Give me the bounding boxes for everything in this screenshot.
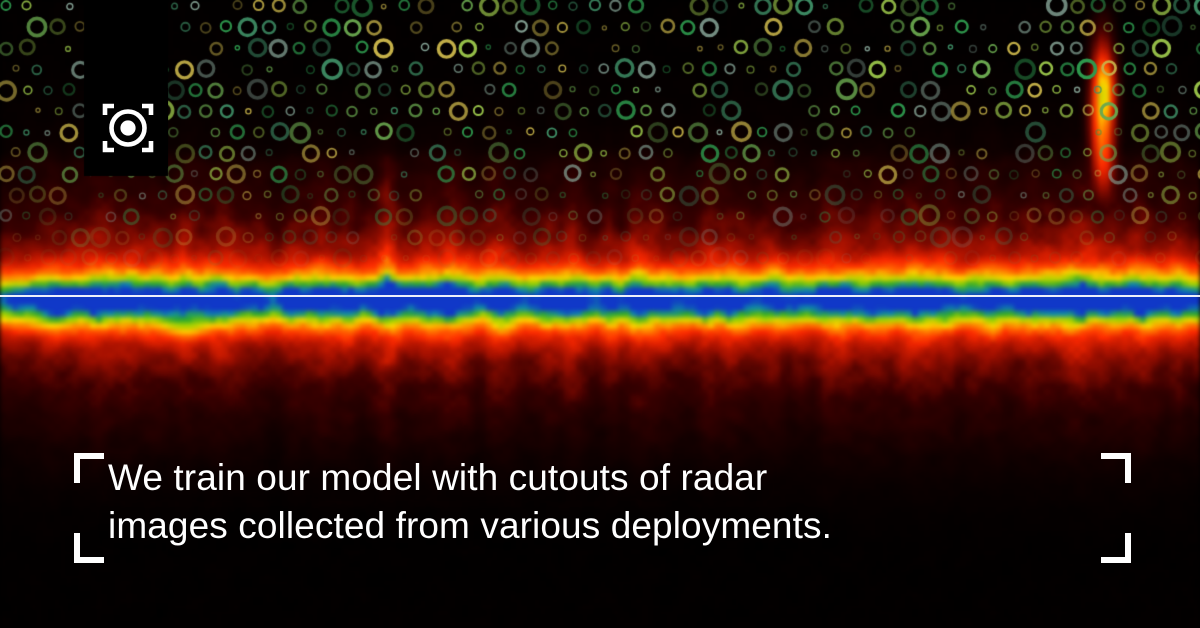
caption-block: We train our model with cutouts of radar… <box>70 448 1135 566</box>
caption-text: We train our model with cutouts of radar… <box>108 454 1088 550</box>
bracket-bottom-right-icon <box>1101 533 1131 563</box>
bracket-top-right-icon <box>1101 453 1131 483</box>
radar-capture-logo[interactable] <box>88 88 168 168</box>
bracket-bottom-left-icon <box>74 533 104 563</box>
viewfinder-aperture-icon <box>88 88 168 168</box>
bracket-top-left-icon <box>74 453 104 483</box>
radar-banner: We train our model with cutouts of radar… <box>0 0 1200 628</box>
